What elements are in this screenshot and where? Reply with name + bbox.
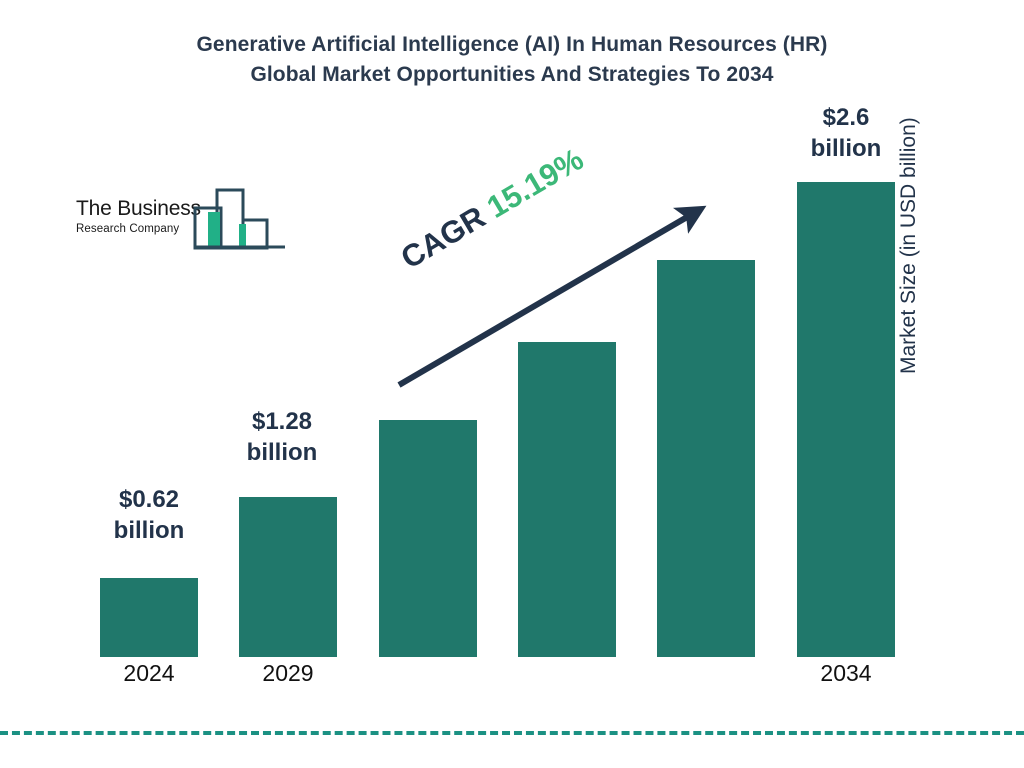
- cagr-word: CAGR: [395, 199, 491, 275]
- value-label-2029-unit: billion: [217, 438, 347, 469]
- bar-5: [657, 260, 755, 657]
- value-label-2034-amount: $2.6: [781, 103, 911, 134]
- bar-2024: [100, 578, 198, 657]
- value-label-2029-amount: $1.28: [217, 407, 347, 438]
- value-label-2024: $0.62 billion: [84, 485, 214, 546]
- bar-2029: [239, 497, 337, 657]
- bar-3: [379, 420, 477, 657]
- footer-divider: [0, 731, 1024, 735]
- xtick-2029: 2029: [228, 662, 348, 685]
- value-label-2034-unit: billion: [781, 134, 911, 165]
- value-label-2024-unit: billion: [84, 516, 214, 547]
- value-label-2034: $2.6 billion: [781, 103, 911, 164]
- value-label-2024-amount: $0.62: [84, 485, 214, 516]
- xtick-2034: 2034: [786, 662, 906, 685]
- value-label-2029: $1.28 billion: [217, 407, 347, 468]
- bar-2034: [797, 182, 895, 657]
- cagr-value: 15.19%: [481, 141, 589, 225]
- bar-4: [518, 342, 616, 657]
- bar-chart-plot-area: $0.62 billion $1.28 billion $2.6 billion…: [0, 0, 1024, 768]
- xtick-2024: 2024: [89, 662, 209, 685]
- y-axis-title: Market Size (in USD billion): [898, 34, 919, 374]
- cagr-annotation: CAGR 15.19%: [395, 141, 590, 276]
